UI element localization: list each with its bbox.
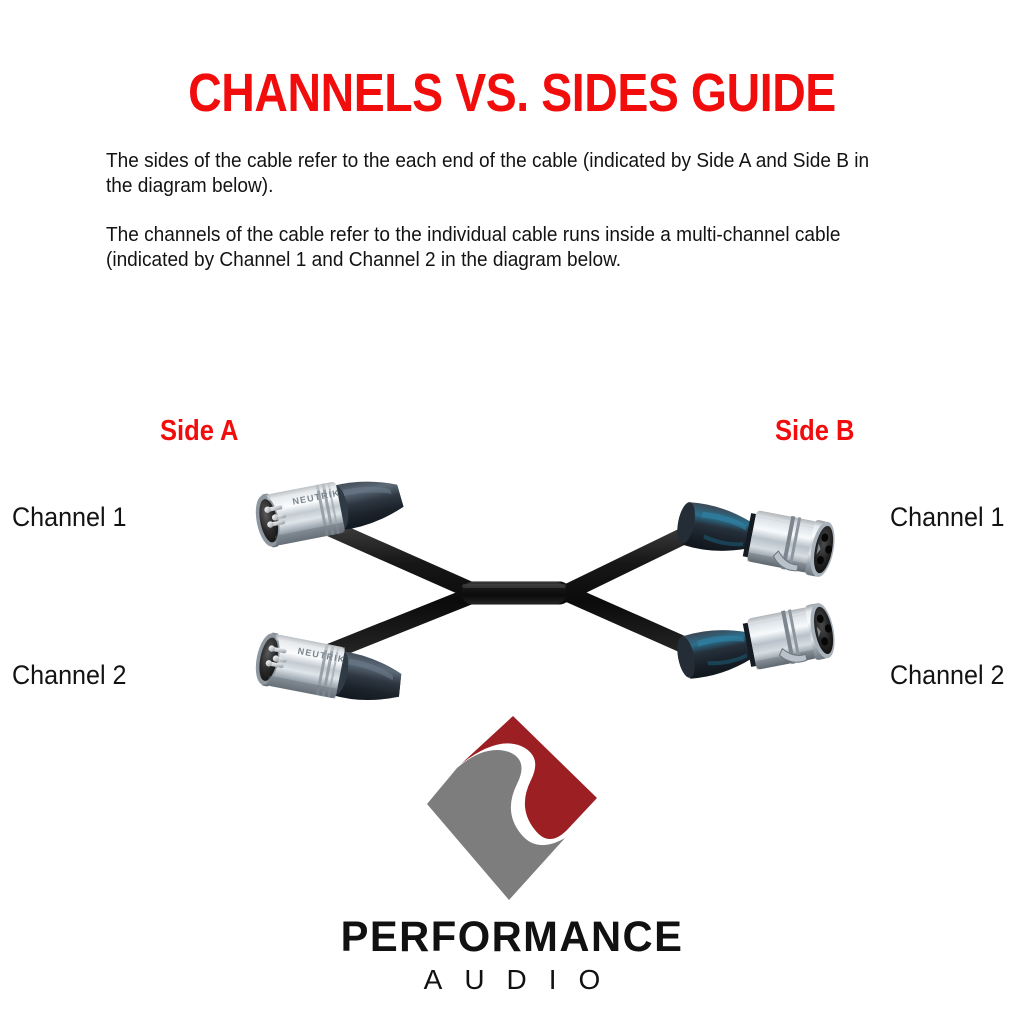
connector-left-bottom xyxy=(252,630,407,711)
logo-wordmark: PERFORMANCE xyxy=(15,913,1008,962)
connector-right-bottom xyxy=(673,601,839,686)
label-side-b: Side B xyxy=(775,415,854,448)
page-title: CHANNELS VS. SIDES GUIDE xyxy=(72,62,953,124)
connector-left-top xyxy=(252,468,407,549)
cable-diagram-svg: NEUTRIK xyxy=(0,460,1024,720)
logo-subtitle: AUDIO xyxy=(0,964,1024,996)
logo-wordmark-text: PERFORMANCE xyxy=(341,913,684,961)
connector-right-top xyxy=(673,494,839,579)
paragraph-sides: The sides of the cable refer to the each… xyxy=(106,148,892,198)
brand-logo: PERFORMANCE AUDIO xyxy=(0,712,1024,996)
body-copy: The sides of the cable refer to the each… xyxy=(106,148,951,296)
performance-audio-mark-icon xyxy=(417,712,607,907)
infographic-page: CHANNELS VS. SIDES GUIDE The sides of th… xyxy=(0,0,1024,1024)
cable-runs xyxy=(330,528,700,652)
cable-diagram: NEUTRIK xyxy=(0,460,1024,720)
label-side-a: Side A xyxy=(160,415,238,448)
paragraph-channels: The channels of the cable refer to the i… xyxy=(106,222,892,272)
